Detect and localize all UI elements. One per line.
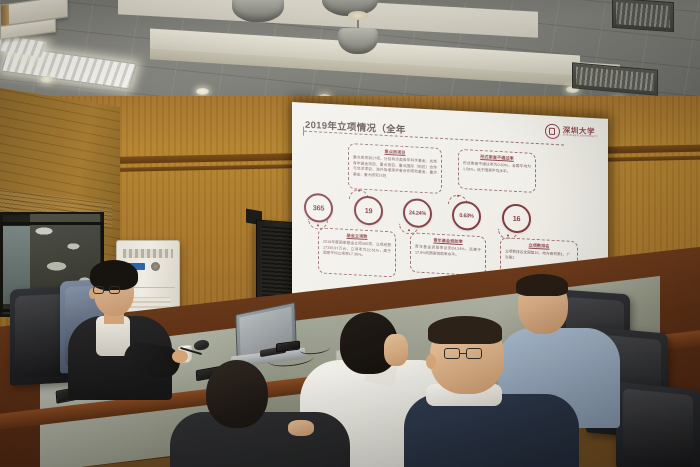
metric-circle-3: 24.24%: [403, 198, 432, 229]
attendee-foreground: [170, 360, 350, 467]
notebook-spine: [1, 5, 9, 26]
metric-value: 365: [313, 203, 324, 213]
attendee-foreground-torso: [170, 412, 350, 467]
downlight-1: [40, 76, 53, 83]
metric-value: 19: [365, 206, 373, 215]
callout-body: 青年基金资助率达到24.24%，远高于17.9%的国家资助率水平。: [415, 244, 481, 259]
conference-room-photo: 2019年立项情况（全年 深圳大学 SHENZHEN UNIVERSITY 重点…: [0, 0, 700, 467]
eyeglasses-icon: [93, 286, 135, 296]
attendee-navy-polo: [404, 318, 574, 467]
eyeglasses-icon: [444, 348, 502, 360]
metric-value: 24.24%: [409, 210, 426, 217]
university-logo: 深圳大学 SHENZHEN UNIVERSITY: [545, 123, 598, 141]
ac-top-grille: [123, 249, 173, 258]
ceiling: [0, 0, 700, 108]
ceiling-air-vent-1: [612, 0, 674, 32]
callout-body: 重点类项目17项，分别有点类青年科学基金、优秀青年基金项目、重点项目、重点国际（…: [353, 155, 437, 182]
chair-attendee-2[interactable]: [616, 382, 700, 467]
callout-body: 2019年度国家基金立项365项，立项经费17336.97万元，立项率为22.6…: [323, 239, 391, 260]
attendee-navy-polo-hair: [428, 316, 502, 344]
university-seal-icon: [545, 123, 560, 139]
attendee-navy-polo-ear: [426, 354, 436, 369]
metric-circle-2: 19: [354, 195, 383, 226]
title-dashed-rule: [304, 131, 564, 146]
downlight-2: [196, 88, 209, 95]
callout-fund-project-count: 基金立项数 2019年度国家基金立项365项，立项经费17336.97万元，立项…: [318, 227, 396, 277]
callout-formal-review-fail-rate: 形式审查不通过率 形式审查不通过率为0.63%，全国平均为1.59%，低于国家平…: [458, 149, 536, 193]
metric-circle-5: 16: [502, 203, 531, 234]
attendee-foreground-head: [206, 360, 268, 428]
attendee-foreground-hand: [288, 420, 314, 436]
metric-value: 0.63%: [459, 212, 473, 219]
callout-body: 形式审查不通过率为0.63%，全国平均为1.59%，低于国家平均水平。: [463, 161, 531, 176]
callout-youth-fund-rate: 青年基金资助率 青年基金资助率达到24.24%，远高于17.9%的国家资助率水平…: [410, 232, 486, 276]
metric-circle-4: 0.63%: [452, 201, 481, 232]
university-name-en: SHENZHEN UNIVERSITY: [563, 135, 598, 139]
metric-value: 16: [513, 214, 521, 223]
presenter: [62, 258, 182, 388]
attendee-back-hair: [516, 274, 568, 296]
metric-circle-1: 365: [304, 193, 333, 224]
callout-key-projects: 重点类项目 重点类项目17项，分别有点类青年科学基金、优秀青年基金项目、重点项目…: [348, 143, 442, 194]
